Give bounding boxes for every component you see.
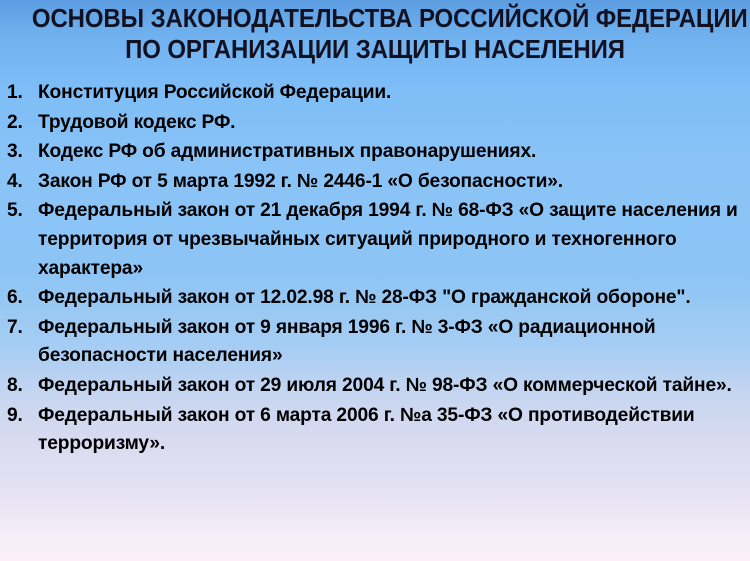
list-item-number: 4. bbox=[5, 168, 38, 197]
title-line-2: ПО ОРГАНИЗАЦИИ ЗАЩИТЫ НАСЕЛЕНИЯ bbox=[32, 35, 718, 66]
list-item: 3.Кодекс РФ об административных правонар… bbox=[5, 138, 742, 167]
list-item: 6.Федеральный закон от 12.02.98 г. № 28-… bbox=[5, 284, 742, 313]
list-item-text: Федеральный закон от 12.02.98 г. № 28-ФЗ… bbox=[38, 284, 742, 313]
list-item: 1.Конституция Российской Федерации. bbox=[5, 79, 742, 108]
list-item: 9.Федеральный закон от 6 марта 2006 г. №… bbox=[5, 402, 742, 459]
list-item-number: 6. bbox=[5, 284, 38, 313]
list-item-text: Федеральный закон от 29 июля 2004 г. № 9… bbox=[38, 372, 742, 401]
list-item-text: Федеральный закон от 9 января 1996 г. № … bbox=[38, 314, 742, 371]
list-item: 8.Федеральный закон от 29 июля 2004 г. №… bbox=[5, 372, 742, 401]
list-item-number: 9. bbox=[5, 402, 38, 431]
list-item-number: 8. bbox=[5, 372, 38, 401]
slide-canvas: ОСНОВЫ ЗАКОНОДАТЕЛЬСТВА РОССИЙСКОЙ ФЕДЕР… bbox=[0, 0, 750, 561]
list-item-text: Конституция Российской Федерации. bbox=[38, 79, 742, 108]
list-item-number: 2. bbox=[5, 109, 38, 138]
list-item-number: 1. bbox=[5, 79, 38, 108]
title-line-1: ОСНОВЫ ЗАКОНОДАТЕЛЬСТВА РОССИЙСКОЙ ФЕДЕР… bbox=[32, 4, 718, 35]
list-item-text: Федеральный закон от 6 марта 2006 г. №а … bbox=[38, 402, 742, 459]
list-item-text: Федеральный закон от 21 декабря 1994 г. … bbox=[38, 197, 742, 283]
list-item-number: 3. bbox=[5, 138, 38, 167]
list-item-text: Закон РФ от 5 марта 1992 г. № 2446-1 «О … bbox=[38, 168, 742, 197]
legislation-list: 1.Конституция Российской Федерации.2.Тру… bbox=[0, 66, 750, 459]
list-item-text: Кодекс РФ об административных правонаруш… bbox=[38, 138, 742, 167]
page-title: ОСНОВЫ ЗАКОНОДАТЕЛЬСТВА РОССИЙСКОЙ ФЕДЕР… bbox=[0, 0, 750, 66]
list-item: 4.Закон РФ от 5 марта 1992 г. № 2446-1 «… bbox=[5, 168, 742, 197]
list-item-text: Трудовой кодекс РФ. bbox=[38, 109, 742, 138]
list-item: 5.Федеральный закон от 21 декабря 1994 г… bbox=[5, 197, 742, 283]
list-item: 2.Трудовой кодекс РФ. bbox=[5, 109, 742, 138]
list-item-number: 5. bbox=[5, 197, 38, 226]
list-item-number: 7. bbox=[5, 314, 38, 343]
list-item: 7.Федеральный закон от 9 января 1996 г. … bbox=[5, 314, 742, 371]
